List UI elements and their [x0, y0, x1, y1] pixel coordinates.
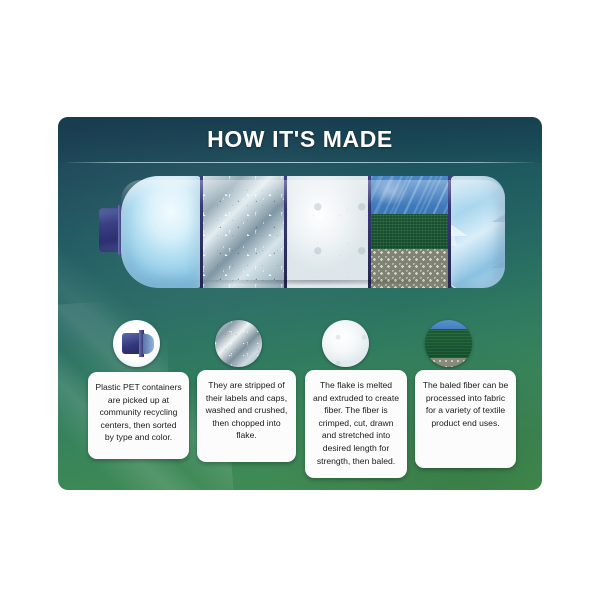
thumb-white-fiber [322, 320, 369, 367]
white-flake-texture [287, 176, 369, 288]
page-title: HOW IT'S MADE [58, 117, 542, 162]
step-caption-4: The baled fiber can be processed into fa… [415, 370, 516, 468]
fabric-segment [371, 176, 449, 288]
step-caption-1: Plastic PET containers are picked up at … [88, 372, 189, 459]
segment-divider [284, 176, 287, 288]
bottle-shoulder-segment [121, 176, 201, 288]
crushed-flake-segment [203, 176, 285, 288]
bottle-process-graphic [99, 176, 505, 288]
flake-shard-texture [203, 176, 285, 288]
green-fabric-band [371, 214, 449, 249]
thumb-fiber-texture [322, 320, 369, 367]
step-caption-3: The flake is melted and extruded to crea… [305, 370, 407, 478]
thumb-green-fabric [425, 320, 472, 367]
thumb-green-band [425, 329, 472, 357]
thumb-bottle-cap [113, 320, 160, 367]
segment-divider [448, 176, 451, 288]
thumb-blue-band [425, 320, 472, 329]
thumb-flake-texture [215, 320, 262, 367]
thumb-mesh-band [425, 358, 472, 367]
cap-mini-edge [143, 334, 154, 354]
base-facet-texture [451, 176, 505, 288]
white-flake-segment [287, 176, 369, 288]
thumb-crushed-flake [215, 320, 262, 367]
segment-divider [368, 176, 371, 288]
segment-divider [200, 176, 203, 288]
bottle-base-segment [451, 176, 505, 288]
mesh-fabric-band [371, 249, 449, 288]
blue-fabric-band [371, 176, 449, 214]
step-caption-2: They are stripped of their labels and ca… [197, 370, 296, 462]
header-divider [66, 162, 534, 163]
infographic-panel: HOW IT'S MADE [58, 117, 542, 490]
